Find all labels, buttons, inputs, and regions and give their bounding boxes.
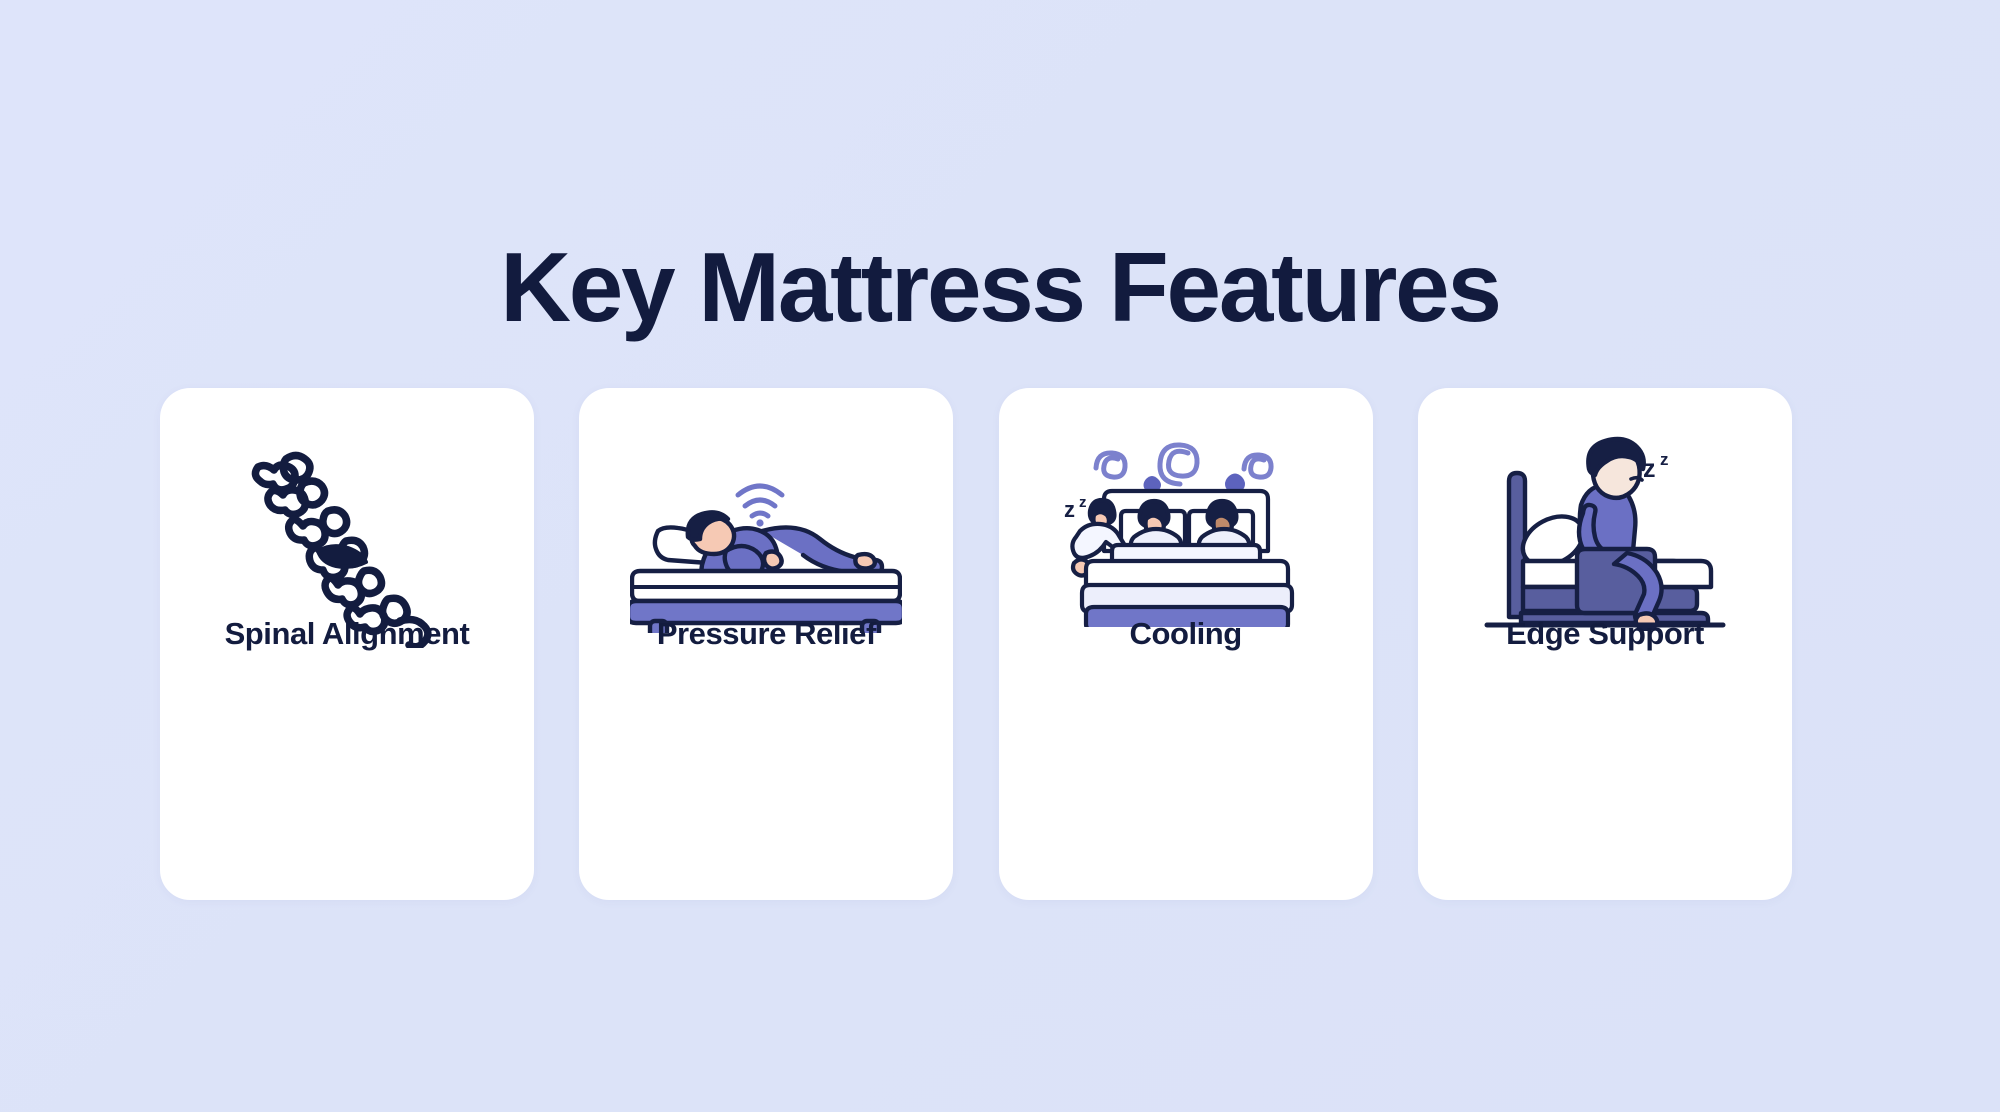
feature-card-edge-support[interactable]: z z — [1418, 388, 1792, 900]
couple-in-bed-cooling-icon: z z — [1060, 427, 1312, 627]
feature-card-row: Spinal Alignment — [160, 388, 1792, 900]
sleep-zzz-icon: z z — [1643, 450, 1669, 483]
feature-card-label: Edge Support — [1418, 616, 1792, 652]
feature-card-cooling[interactable]: z z — [999, 388, 1373, 900]
svg-text:z: z — [1660, 450, 1669, 469]
svg-text:z: z — [1064, 497, 1075, 522]
svg-text:z: z — [1079, 494, 1087, 511]
feature-card-label: Cooling — [999, 616, 1373, 652]
person-sitting-on-bed-edge-icon: z z — [1481, 431, 1729, 631]
feature-card-label: Spinal Alignment — [160, 616, 534, 652]
edge-support-illustration-wrap: z z — [1418, 422, 1792, 640]
slide-canvas: Key Mattress Features — [0, 0, 2000, 1112]
feature-card-pressure-relief[interactable]: Pressure Relief — [579, 388, 953, 900]
cooling-illustration-wrap: z z — [999, 418, 1373, 636]
feature-card-spinal-alignment[interactable]: Spinal Alignment — [160, 388, 534, 900]
person-reclining-on-bed-icon — [630, 473, 902, 633]
cool-swirl-icons — [1096, 445, 1271, 484]
page-title: Key Mattress Features — [0, 238, 2000, 336]
spine-disc-highlight — [318, 546, 366, 567]
feature-card-label: Pressure Relief — [579, 616, 953, 652]
sleep-zzz-icon: z z — [1064, 494, 1087, 522]
